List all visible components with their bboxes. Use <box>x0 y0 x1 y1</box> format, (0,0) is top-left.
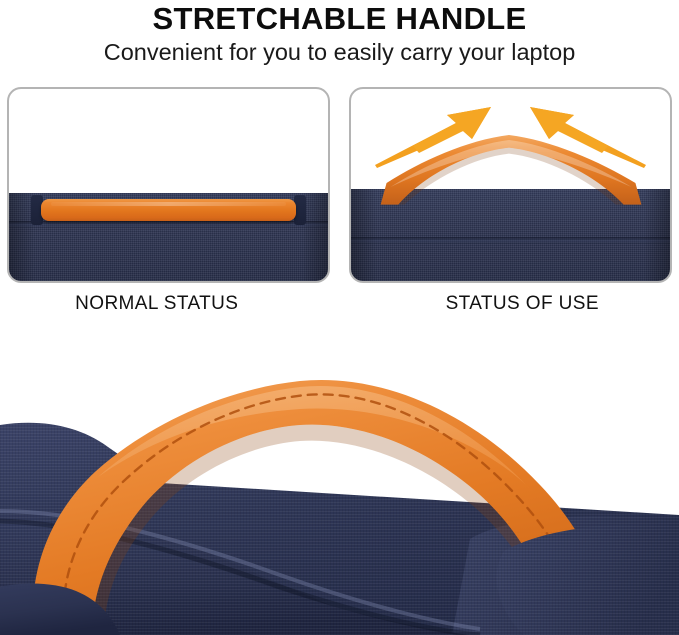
comparison-panels <box>0 87 679 287</box>
fabric-seam <box>9 221 328 228</box>
panel-captions: NORMAL STATUS STATUS OF USE <box>0 292 679 320</box>
caption-status-of-use: STATUS OF USE <box>344 292 679 320</box>
arrow-up-left-icon <box>518 103 648 171</box>
header: STRETCHABLE HANDLE Convenient for you to… <box>0 0 679 67</box>
hero-handle-illustration <box>0 325 679 635</box>
hero-photo <box>0 325 679 635</box>
panel-normal-status <box>7 87 330 283</box>
page-subtitle: Convenient for you to easily carry your … <box>0 37 679 67</box>
panel-status-of-use <box>349 87 672 283</box>
page-title: STRETCHABLE HANDLE <box>0 2 679 36</box>
handle-flat <box>41 199 296 221</box>
arrow-up-right-icon <box>373 103 503 171</box>
caption-normal-status: NORMAL STATUS <box>0 292 344 320</box>
